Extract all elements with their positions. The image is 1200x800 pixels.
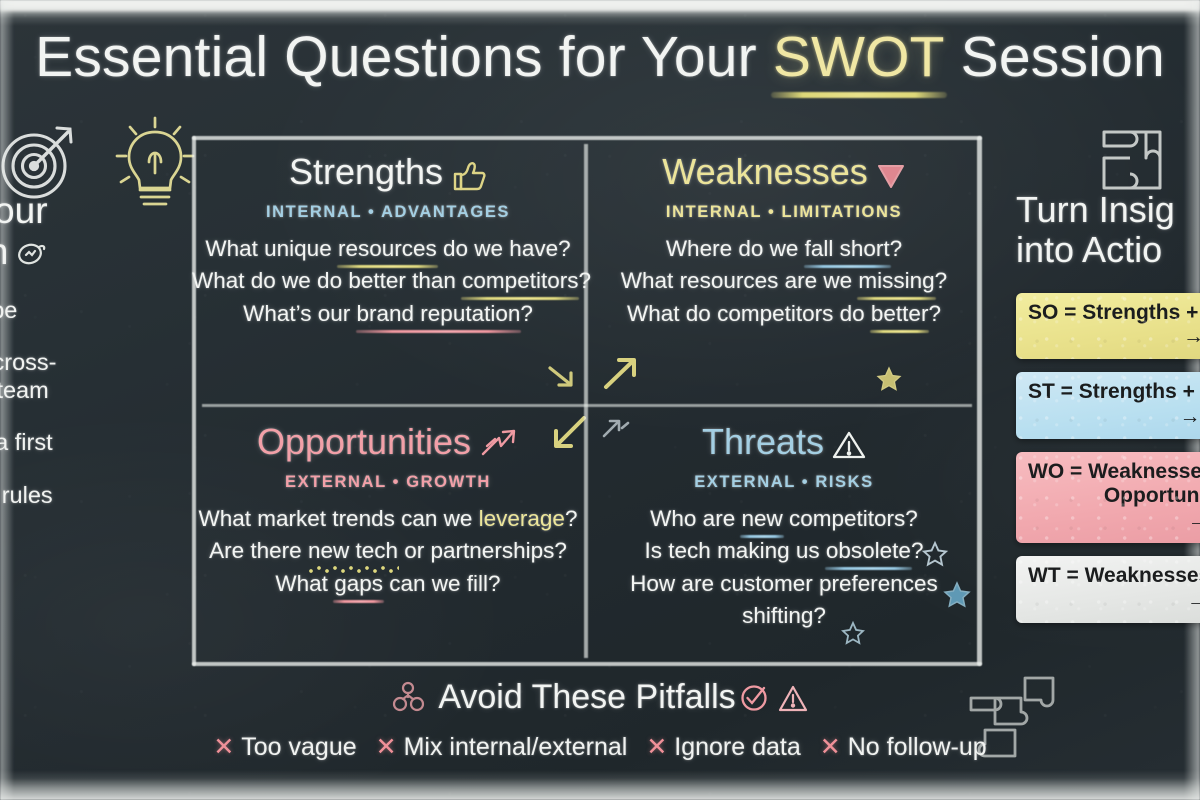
weaknesses-question-list: Where do we fall short? What resources a…: [588, 234, 980, 329]
insight-card-st-line2: → “DEFEN: [1028, 405, 1200, 429]
swot-matrix: Strengths INTERNAL • ADVANTAGES What uni…: [192, 136, 982, 666]
q-post: do we have?: [437, 236, 571, 261]
opportunities-heading: Opportunities: [192, 424, 584, 462]
insight-card-wt[interactable]: WT = Weaknesses → “SURVI: [1016, 556, 1200, 623]
q-post: can we fill?: [383, 571, 501, 596]
insight-card-wt-line1: WT = Weaknesses: [1028, 564, 1200, 588]
pitfall-mark-3: ✕: [646, 733, 667, 761]
threats-question-list: Who are new competitors? Is tech making …: [588, 504, 980, 631]
q-pre: Who are: [650, 506, 741, 531]
q-pre: Is tech making us: [645, 538, 826, 563]
magnifier-icon: [15, 240, 49, 270]
opportunities-question-1: What market trends can we leverage?: [192, 504, 584, 534]
strengths-heading: Strengths: [192, 154, 584, 192]
threats-subtitle: EXTERNAL • RISKS: [588, 473, 980, 492]
q-pre: Where do we: [666, 236, 805, 261]
pitfall-mark-2: ✕: [376, 733, 397, 761]
threats-heading: Threats: [588, 424, 980, 462]
down-triangle-icon: [876, 160, 906, 193]
q-pre: What resources are we: [621, 268, 859, 293]
quadrant-weaknesses: Weaknesses INTERNAL • LIMITATIONS Where …: [588, 136, 980, 402]
opportunities-question-2: Are there new tech or partnerships?: [192, 536, 584, 566]
weaknesses-question-3: What do competitors do better?: [588, 299, 980, 329]
weaknesses-heading: Weaknesses: [588, 154, 980, 192]
strengths-question-3: What’s our brand reputation?: [192, 299, 584, 329]
threats-question-3: How are customer preferences: [588, 569, 980, 599]
insights-panel-title-line1: Turn Insig: [1016, 190, 1200, 230]
board-edge-top-highlight: [0, 0, 1200, 11]
pitfalls-title: Avoid These Pitfalls: [0, 680, 1200, 715]
q-underlined-wavy: new tech: [308, 536, 398, 566]
prep-panel-item-1: ne scope: [0, 297, 172, 324]
insight-card-st-line1: ST = Strengths + T: [1028, 380, 1200, 404]
pitfalls-row: ✕Too vague✕Mix internal/external✕Ignore …: [0, 732, 1200, 762]
check-circle-icon: [739, 684, 771, 714]
board-edge-top: [0, 0, 1200, 26]
pitfalls-section: Avoid These Pitfalls ✕Too vague✕Mix inte…: [0, 680, 1200, 762]
warning-triangle-icon-bottom: [777, 684, 809, 714]
prep-panel-title-line1: ep Your: [0, 190, 172, 231]
board-edge-bottom: [0, 770, 1200, 800]
q-post: shifting?: [742, 603, 826, 628]
insights-card-list: SO = Strengths + Opp → “GROW ST = Streng…: [1016, 293, 1200, 623]
threats-question-1: Who are new competitors?: [588, 504, 980, 534]
page-title-swot-highlight: SWOT: [773, 25, 945, 89]
prep-item-2-line1: emble cross-: [0, 349, 172, 376]
insight-card-wo[interactable]: WO = Weaknesse Opportuniti → “INVES: [1016, 452, 1200, 543]
q-post: ?: [890, 236, 903, 261]
weaknesses-question-1: Where do we fall short?: [588, 234, 980, 264]
quadrant-opportunities: Opportunities EXTERNAL • GROWTH What mar…: [192, 406, 584, 672]
q-underlined: obsolete: [826, 536, 911, 566]
prep-panel-item-4: ground rules: [0, 482, 172, 509]
quadrant-strengths: Strengths INTERNAL • ADVANTAGES What uni…: [192, 136, 584, 402]
q-post: ?: [935, 268, 948, 293]
q-pre: What market trends can we: [199, 506, 479, 531]
prep-item-2-line2: ctional team: [0, 377, 172, 404]
prep-session-panel: ep Your ssion ne scope emble cross-ction…: [0, 190, 172, 534]
q-underlined: fall short: [805, 234, 890, 264]
q-pre: What unique: [205, 236, 338, 261]
prep-panel-title-line2-text: ssion: [0, 231, 8, 272]
prep-panel-item-3: her data first: [0, 429, 172, 456]
turn-insights-panel: Turn Insig into Actio SO = Strengths + O…: [1016, 190, 1200, 636]
page-title-before: Essential Questions for Your: [35, 25, 773, 89]
opportunities-heading-label: Opportunities: [257, 421, 471, 462]
q-pre: What do competitors do: [627, 301, 871, 326]
q-post: ?: [520, 301, 533, 326]
pitfalls-title-label: Avoid These Pitfalls: [438, 678, 735, 716]
insight-card-so-line1: SO = Strengths + Opp: [1028, 301, 1200, 325]
threats-heading-label: Threats: [702, 421, 824, 462]
q-post: ?: [928, 301, 941, 326]
insight-card-wo-line1b: Opportuniti: [1028, 484, 1200, 508]
q-post: ?: [911, 538, 924, 563]
pitfall-label-1: Too vague: [241, 733, 356, 761]
insight-card-wo-line1: WO = Weaknesse: [1028, 460, 1200, 484]
weaknesses-heading-label: Weaknesses: [662, 151, 867, 192]
q-underlined: gaps: [334, 569, 383, 599]
q-underlined: resources: [338, 234, 437, 264]
page-title: Essential Questions for Your SWOT Sessio…: [0, 28, 1200, 88]
opportunities-question-list: What market trends can we leverage? Are …: [192, 504, 584, 599]
q-underlined: missing: [858, 266, 934, 296]
pitfall-label-2: Mix internal/external: [404, 733, 628, 761]
q-post: ?: [565, 506, 578, 531]
strengths-subtitle: INTERNAL • ADVANTAGES: [192, 203, 584, 222]
q-pre: What’s our: [243, 301, 356, 326]
insight-card-so[interactable]: SO = Strengths + Opp → “GROW: [1016, 293, 1200, 360]
q-underlined: brand reputation: [357, 299, 521, 329]
up-arrow-burst-icon: [479, 430, 519, 463]
quadrant-threats: Threats EXTERNAL • RISKS Who are new com…: [588, 406, 980, 672]
pitfall-mark-1: ✕: [213, 733, 234, 761]
q-pre: How are customer preferences: [630, 571, 938, 596]
strengths-question-2: What do we do better than competitors?: [192, 266, 584, 296]
q-post: or partnerships?: [398, 538, 567, 563]
q-pre: What: [275, 571, 334, 596]
insight-card-so-line2: → “GROW: [1028, 325, 1200, 349]
prep-panel-title: ep Your ssion: [0, 190, 172, 273]
people-group-icon: [391, 684, 435, 714]
prep-panel-title-line2: ssion: [0, 231, 172, 272]
prep-panel-item-2: emble cross-ctional team: [0, 349, 172, 404]
insight-card-st[interactable]: ST = Strengths + T → “DEFEN: [1016, 372, 1200, 439]
warning-triangle-icon: [832, 430, 866, 463]
pitfall-label-4: No follow-up: [848, 733, 987, 761]
q-underlined: better: [871, 299, 929, 329]
insight-card-wo-line2: → “INVES: [1028, 509, 1200, 533]
q-pre: What do we do better than: [192, 268, 462, 293]
strengths-heading-label: Strengths: [289, 151, 443, 192]
thumbs-up-icon: [451, 160, 487, 193]
chalkboard: Essential Questions for Your SWOT Sessio…: [0, 0, 1200, 800]
strengths-question-list: What unique resources do we have? What d…: [192, 234, 584, 329]
insight-card-wt-line2: → “SURVI: [1028, 589, 1200, 613]
weaknesses-subtitle: INTERNAL • LIMITATIONS: [588, 203, 980, 222]
insights-panel-title-line2: into Actio: [1016, 230, 1200, 270]
q-post: competitors?: [783, 506, 918, 531]
opportunities-subtitle: EXTERNAL • GROWTH: [192, 473, 584, 492]
pitfall-label-3: Ignore data: [674, 733, 801, 761]
q-underlined: new: [741, 504, 782, 534]
pitfall-mark-4: ✕: [820, 733, 841, 761]
threats-question-3-cont: shifting?: [588, 601, 980, 631]
prep-panel-list: ne scope emble cross-ctional team her da…: [0, 297, 172, 509]
q-pre: Are there: [209, 538, 308, 563]
threats-question-2: Is tech making us obsolete?: [588, 536, 980, 566]
insights-panel-title: Turn Insig into Actio: [1016, 190, 1200, 271]
weaknesses-question-2: What resources are we missing?: [588, 266, 980, 296]
q-keyword: leverage: [479, 506, 565, 531]
strengths-question-1: What unique resources do we have?: [192, 234, 584, 264]
page-title-after: Session: [945, 25, 1165, 89]
q-underlined: competitors: [462, 266, 578, 296]
